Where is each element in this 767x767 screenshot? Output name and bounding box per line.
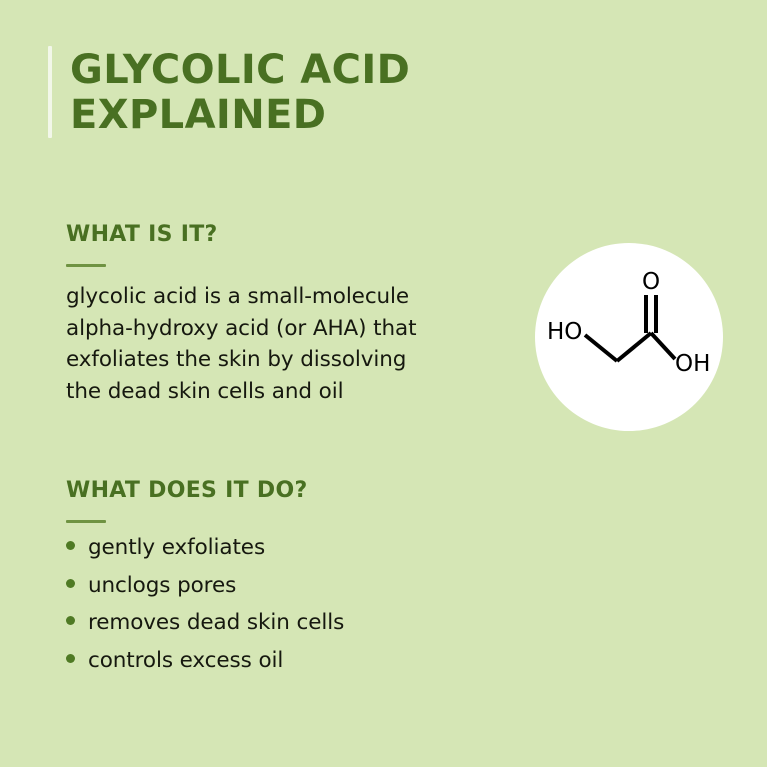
title-block: GLYCOLIC ACID EXPLAINED: [48, 46, 410, 138]
title-accent-bar: [48, 46, 52, 138]
section-body-what-is-it: glycolic acid is a small-molecule alpha-…: [66, 267, 416, 407]
list-item: controls excess oil: [66, 650, 344, 672]
bullet-dot-icon: [66, 616, 75, 625]
list-item-label: controls excess oil: [88, 650, 283, 672]
bullet-dot-icon: [66, 654, 75, 663]
list-item: removes dead skin cells: [66, 612, 344, 634]
list-item: unclogs pores: [66, 575, 344, 597]
bullet-dot-icon: [66, 579, 75, 588]
molecule-label-carbonyl-oxygen: O: [642, 269, 660, 295]
molecule-label-carboxyl-right: OH: [675, 351, 710, 377]
section-what-does-it-do: WHAT DOES IT DO? gently exfoliates unclo…: [66, 478, 344, 687]
list-item-label: removes dead skin cells: [88, 612, 344, 634]
molecule-badge: HO O OH: [535, 243, 723, 431]
glycolic-acid-infographic: GLYCOLIC ACID EXPLAINED WHAT IS IT? glyc…: [0, 0, 767, 767]
section-heading-what-is-it: WHAT IS IT?: [66, 222, 416, 247]
page-title: GLYCOLIC ACID EXPLAINED: [70, 46, 410, 138]
section-what-is-it: WHAT IS IT? glycolic acid is a small-mol…: [66, 222, 416, 407]
molecule-label-hydroxyl-left: HO: [547, 319, 582, 345]
list-item: gently exfoliates: [66, 537, 344, 559]
section-heading-what-does-it-do: WHAT DOES IT DO?: [66, 478, 344, 503]
list-item-label: unclogs pores: [88, 575, 236, 597]
glycolic-acid-molecule-icon: HO O OH: [541, 267, 717, 407]
benefit-list: gently exfoliates unclogs pores removes …: [66, 523, 344, 671]
bullet-dot-icon: [66, 541, 75, 550]
list-item-label: gently exfoliates: [88, 537, 265, 559]
